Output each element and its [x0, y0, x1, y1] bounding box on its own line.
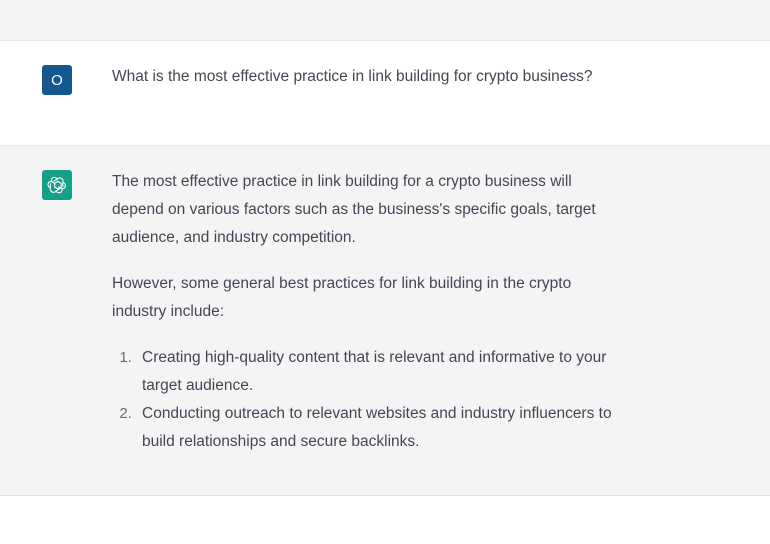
user-avatar-initial: O	[51, 72, 63, 89]
user-initial-avatar: O	[42, 65, 72, 95]
user-message-paragraph: What is the most effective practice in l…	[112, 63, 620, 91]
assistant-best-practices-list: Creating high-quality content that is re…	[112, 344, 620, 456]
list-item: Creating high-quality content that is re…	[136, 344, 620, 400]
list-item: Conducting outreach to relevant websites…	[136, 400, 620, 456]
user-avatar-cell: O	[0, 63, 72, 123]
assistant-message-content: The most effective practice in link buil…	[72, 168, 770, 473]
assistant-paragraph-1: The most effective practice in link buil…	[112, 168, 620, 252]
assistant-paragraph-2: However, some general best practices for…	[112, 270, 620, 326]
user-message-content: What is the most effective practice in l…	[72, 63, 770, 123]
previous-message-strip	[0, 0, 770, 41]
openai-logo-icon	[42, 170, 72, 200]
user-message-row: O What is the most effective practice in…	[0, 41, 770, 146]
conversation-bottom-space	[0, 496, 770, 544]
assistant-avatar-cell	[0, 168, 72, 473]
chat-conversation: O What is the most effective practice in…	[0, 0, 770, 544]
assistant-message-row: The most effective practice in link buil…	[0, 146, 770, 496]
